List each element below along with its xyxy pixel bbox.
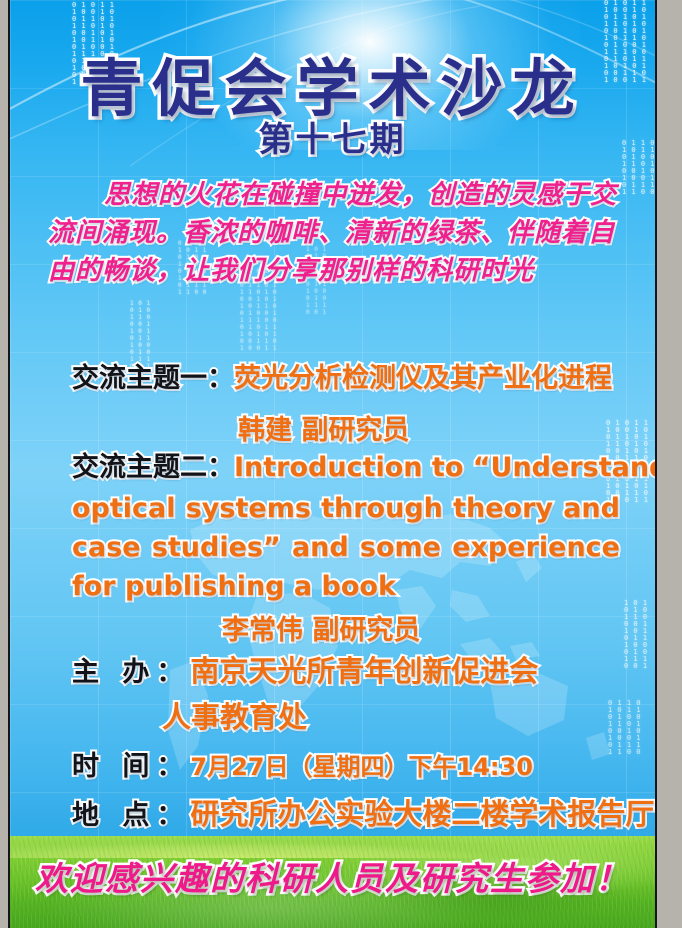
topic1-row: 交流主题一：荧光分析检测仪及其产业化进程	[72, 356, 612, 395]
topic2-speaker: 李常伟 副研究员	[222, 608, 420, 647]
organizer-name-line1: 南京天光所青年创新促进会	[190, 654, 538, 688]
topic1-label: 交流主题一：	[72, 363, 234, 394]
time-row: 时 间：7月27日（星期四）下午14:30	[72, 744, 533, 783]
frame-border-right	[655, 0, 657, 928]
binary-stream-decoration-right-4: 1 0 1 0 1 0 1 1 0 0 0 1 1 0 1 0 1 1 1 0 …	[624, 600, 648, 670]
organizer-name-line2: 人事教育处	[162, 694, 307, 736]
time-value: 7月27日（星期四）下午14:30	[190, 753, 533, 781]
organizer-label: 主 办：	[72, 657, 190, 688]
topic1-title: 荧光分析检测仪及其产业化进程	[234, 363, 612, 394]
time-label: 时 间：	[72, 751, 190, 782]
place-label: 地 点：	[72, 800, 190, 831]
organizer-row: 主 办：南京天光所青年创新促进会	[72, 648, 538, 690]
poster-canvas: 0 1 0 1 1 1 0 0 1 0 0 1 1 0 1 1 1 0 1 0 …	[0, 0, 682, 928]
place-row: 地 点：研究所办公实验大楼二楼学术报告厅	[72, 791, 654, 833]
welcome-banner-text: 欢迎感兴趣的科研人员及研究生参加！	[10, 852, 655, 900]
topic2-label: 交流主题二：	[72, 452, 234, 483]
issue-subtitle: 第十七期	[10, 112, 655, 161]
poster-artboard: 0 1 0 1 1 1 0 0 1 0 0 1 1 0 1 1 1 0 1 0 …	[10, 0, 655, 928]
topic2-row: 交流主题二：Introduction to “Understanding	[72, 445, 655, 484]
topic1-speaker: 韩建 副研究员	[238, 408, 409, 447]
frame-border-left	[8, 0, 10, 928]
topic2-title-body: optical systems through theory and case …	[72, 489, 620, 606]
topic2-title-line1: Introduction to “Understanding	[234, 452, 655, 483]
intro-paragraph: 思想的火花在碰撞中迸发，创造的灵感于交流间涌现。香浓的咖啡、清新的绿茶、伴随着自…	[48, 176, 628, 290]
place-value: 研究所办公实验大楼二楼学术报告厅	[190, 797, 654, 831]
binary-stream-decoration-right-5: 0 1 1 0 1 0 1 1 0 1 0 0 1 1 0 1 0 0 1 0 …	[608, 700, 641, 756]
